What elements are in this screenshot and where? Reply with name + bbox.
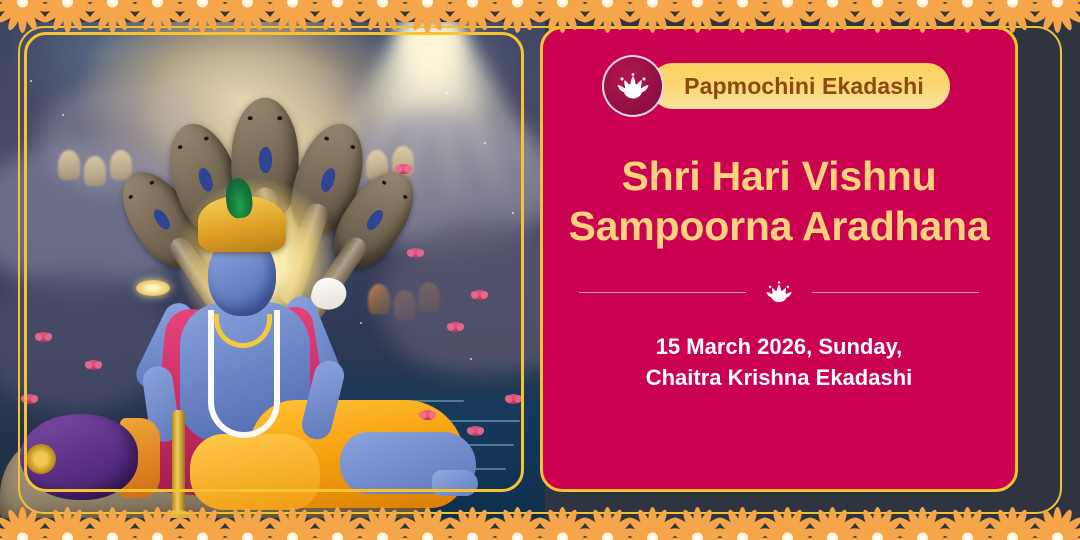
floating-lotus xyxy=(396,164,411,174)
marigold-flower xyxy=(630,504,675,540)
marigold-icon xyxy=(810,504,855,540)
marigold-flower xyxy=(1035,504,1080,540)
marigold-icon xyxy=(585,504,630,540)
badge-label: Papmochini Ekadashi xyxy=(684,73,924,100)
floating-lotus xyxy=(36,332,51,342)
marigold-icon xyxy=(630,504,675,540)
marigold-flower xyxy=(675,504,720,540)
vishnu-illustration xyxy=(0,22,545,518)
floating-lotus xyxy=(468,426,483,436)
marigold-flower xyxy=(1035,0,1080,36)
devotee-silhouette xyxy=(58,150,80,180)
info-panel: Papmochini Ekadashi Shri Hari Vishnu Sam… xyxy=(540,26,1018,492)
marigold-flower xyxy=(585,504,630,540)
festival-banner: Papmochini Ekadashi Shri Hari Vishnu Sam… xyxy=(0,0,1080,540)
marigold-icon xyxy=(675,504,720,540)
divider-line-right xyxy=(812,292,979,293)
lotus-icon xyxy=(764,281,794,303)
marigold-flower xyxy=(855,504,900,540)
gada-mace-icon xyxy=(172,410,185,518)
marigold-icon xyxy=(900,504,945,540)
marigold-flower xyxy=(990,504,1035,540)
vishnu-dhoti xyxy=(190,434,320,510)
badge-icon-circle xyxy=(602,55,664,117)
sudarshana-chakra-icon xyxy=(136,280,170,296)
marigold-icon xyxy=(990,504,1035,540)
marigold-flower xyxy=(720,504,765,540)
floating-lotus xyxy=(22,394,37,404)
marigold-icon xyxy=(765,504,810,540)
date-line-2: Chaitra Krishna Ekadashi xyxy=(646,362,913,393)
floating-lotus xyxy=(86,360,101,370)
floating-lotus xyxy=(448,322,463,332)
marigold-icon xyxy=(1035,0,1080,36)
floating-lotus xyxy=(506,394,521,404)
divider-line-left xyxy=(579,292,746,293)
floating-lotus xyxy=(472,290,487,300)
divider-lotus xyxy=(764,281,794,303)
page-title: Shri Hari Vishnu Sampoorna Aradhana xyxy=(569,151,990,251)
title-line-2: Sampoorna Aradhana xyxy=(569,201,990,251)
title-line-1: Shri Hari Vishnu xyxy=(569,151,990,201)
marigold-flower xyxy=(810,504,855,540)
marigold-flower xyxy=(900,504,945,540)
marigold-flower xyxy=(540,504,585,540)
date-line-1: 15 March 2026, Sunday, xyxy=(646,331,913,362)
marigold-icon xyxy=(540,504,585,540)
marigold-icon xyxy=(1035,504,1080,540)
floating-lotus xyxy=(408,248,423,258)
ornamental-divider xyxy=(579,281,979,303)
marigold-icon xyxy=(720,504,765,540)
marigold-icon xyxy=(855,504,900,540)
badge-pill: Papmochini Ekadashi xyxy=(650,63,950,109)
marigold-flower xyxy=(945,504,990,540)
festival-badge[interactable]: Papmochini Ekadashi xyxy=(602,55,950,117)
floating-lotus xyxy=(420,410,435,420)
vishnu-foot xyxy=(432,470,478,496)
lotus-icon xyxy=(616,73,650,99)
festival-date: 15 March 2026, Sunday, Chaitra Krishna E… xyxy=(646,331,913,393)
purple-bolster-pillow xyxy=(20,414,138,500)
marigold-icon xyxy=(945,504,990,540)
marigold-flower xyxy=(765,504,810,540)
